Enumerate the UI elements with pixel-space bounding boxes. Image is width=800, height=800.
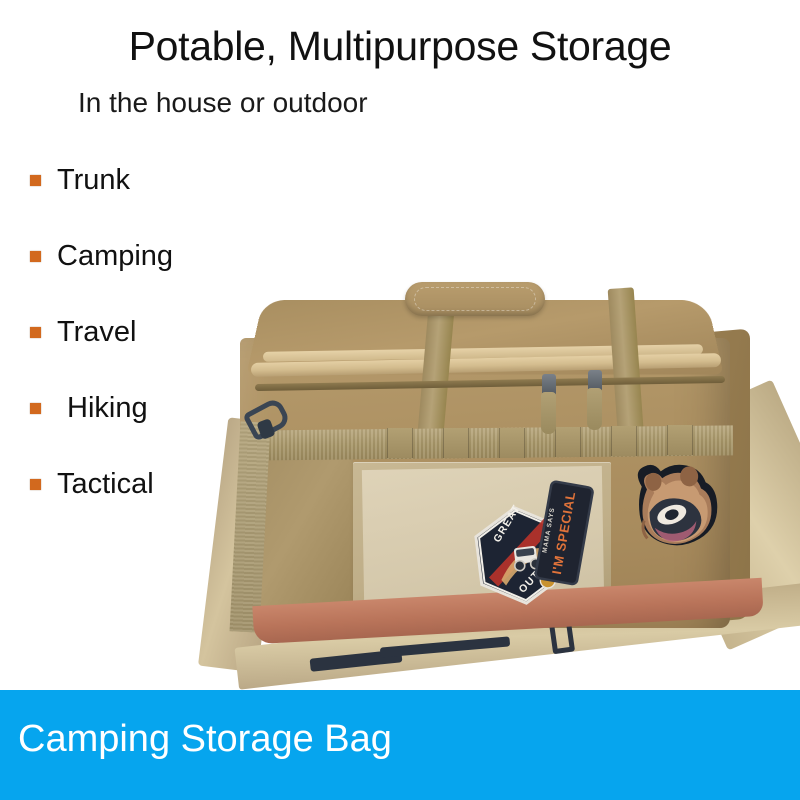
list-item: Camping xyxy=(30,218,300,294)
molle-loop xyxy=(443,428,469,458)
molle-loop xyxy=(555,427,581,457)
bullet-square-icon xyxy=(30,403,41,414)
feature-label: Travel xyxy=(57,315,137,349)
list-item: Tactical xyxy=(30,446,300,522)
bottom-banner: Camping Storage Bag xyxy=(0,690,800,800)
zipper-tab xyxy=(541,392,556,434)
feature-label: Tactical xyxy=(57,467,154,501)
molle-webbing-band xyxy=(243,425,733,460)
page-subtitle: In the house or outdoor xyxy=(78,86,368,120)
front-pocket-window xyxy=(362,466,604,604)
page-title: Potable, Multipurpose Storage xyxy=(0,22,800,70)
bullet-square-icon xyxy=(30,479,41,490)
zipper-pull-icon xyxy=(587,370,602,430)
zipper-tab xyxy=(587,388,602,430)
bullet-square-icon xyxy=(30,175,41,186)
molle-loop xyxy=(611,426,637,456)
molle-loop xyxy=(667,425,693,455)
product-infographic: Potable, Multipurpose Storage In the hou… xyxy=(0,0,800,800)
carry-handle-pad xyxy=(405,282,545,316)
feature-label: Hiking xyxy=(57,391,148,425)
list-item: Travel xyxy=(30,294,300,370)
banner-label: Camping Storage Bag xyxy=(18,716,392,762)
feature-label: Trunk xyxy=(57,163,130,197)
molle-loop xyxy=(499,428,525,458)
list-item: Hiking xyxy=(30,370,300,446)
bullet-square-icon xyxy=(30,327,41,338)
bullet-square-icon xyxy=(30,251,41,262)
feature-label: Camping xyxy=(57,239,173,273)
molle-loop xyxy=(387,428,413,458)
zipper-pull-icon xyxy=(541,374,556,434)
list-item: Trunk xyxy=(30,142,300,218)
feature-list: Trunk Camping Travel Hiking Tactical xyxy=(30,142,300,522)
